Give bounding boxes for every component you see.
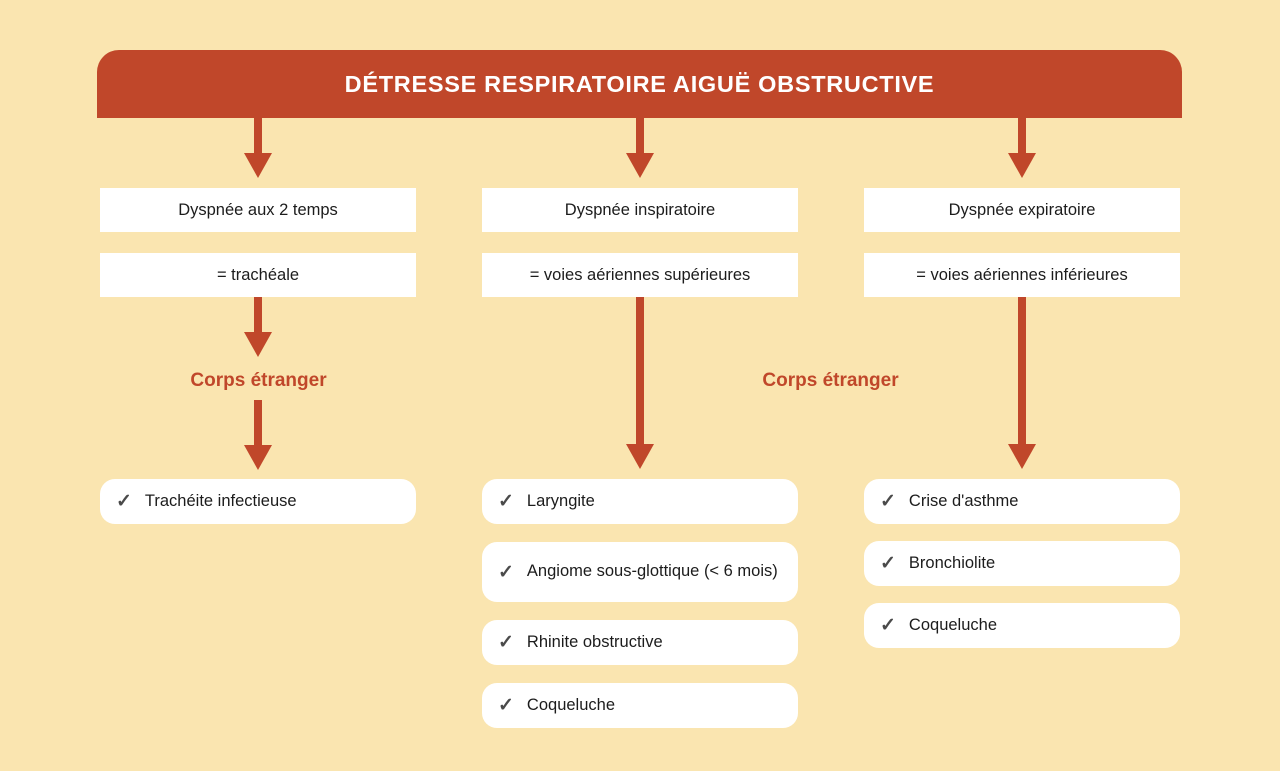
check-icon: ✓ <box>880 554 896 573</box>
diagnosis-label: Crise d'asthme <box>909 491 1019 513</box>
diagnosis-item[interactable]: ✓Coqueluche <box>864 603 1180 648</box>
check-icon: ✓ <box>498 633 514 652</box>
check-icon: ✓ <box>116 492 132 511</box>
diagnosis-item[interactable]: ✓Crise d'asthme <box>864 479 1180 524</box>
localization-box: = trachéale <box>100 253 416 297</box>
diagram-canvas: DÉTRESSE RESPIRATOIRE AIGUË OBSTRUCTIVE … <box>0 0 1280 771</box>
symptom-box: Dyspnée expiratoire <box>864 188 1180 232</box>
diagnosis-item[interactable]: ✓Coqueluche <box>482 683 798 728</box>
diagnosis-label: Coqueluche <box>527 695 615 717</box>
localization-box: = voies aériennes inférieures <box>864 253 1180 297</box>
localization-box: = voies aériennes supérieures <box>482 253 798 297</box>
diagnosis-item[interactable]: ✓Rhinite obstructive <box>482 620 798 665</box>
diagnosis-label: Laryngite <box>527 491 595 513</box>
diagnosis-item[interactable]: ✓Angiome sous-glottique (< 6 mois) <box>482 542 798 602</box>
check-icon: ✓ <box>880 616 896 635</box>
diagnosis-column-2: Dyspnée expiratoire= voies aériennes inf… <box>864 0 1180 771</box>
diagnosis-column-0: Dyspnée aux 2 temps= trachéale✓Trachéite… <box>100 0 416 771</box>
symptom-box: Dyspnée aux 2 temps <box>100 188 416 232</box>
diagnosis-label: Rhinite obstructive <box>527 632 663 654</box>
diagnosis-column-1: Dyspnée inspiratoire= voies aériennes su… <box>482 0 798 771</box>
diagnosis-label: Angiome sous-glottique (< 6 mois) <box>527 561 778 583</box>
diagnosis-label: Coqueluche <box>909 615 997 637</box>
check-icon: ✓ <box>880 492 896 511</box>
diagnosis-label: Bronchiolite <box>909 553 995 575</box>
check-icon: ✓ <box>498 563 514 582</box>
diagnosis-item[interactable]: ✓Bronchiolite <box>864 541 1180 586</box>
diagnosis-item[interactable]: ✓Laryngite <box>482 479 798 524</box>
check-icon: ✓ <box>498 492 514 511</box>
diagnosis-label: Trachéite infectieuse <box>145 491 297 513</box>
check-icon: ✓ <box>498 696 514 715</box>
diagnosis-item[interactable]: ✓Trachéite infectieuse <box>100 479 416 524</box>
symptom-box: Dyspnée inspiratoire <box>482 188 798 232</box>
